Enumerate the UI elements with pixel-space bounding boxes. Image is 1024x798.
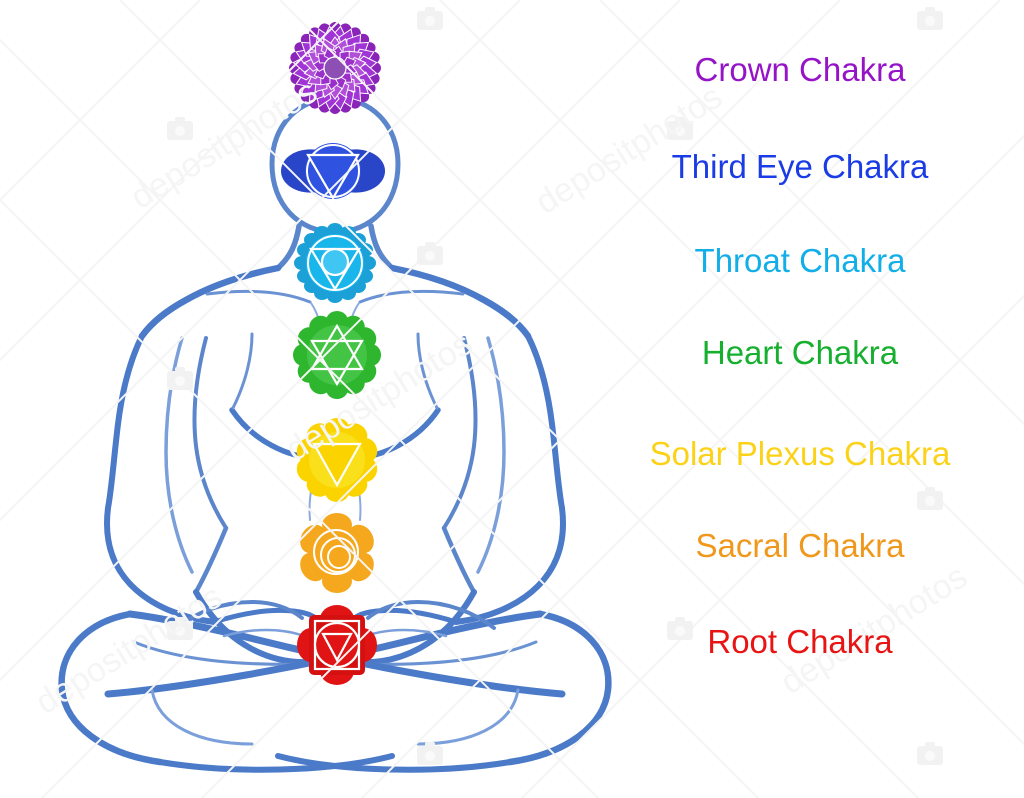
- chakra-label-solar-plexus: Solar Plexus Chakra: [590, 435, 1010, 473]
- chakra-label-list: Crown Chakra Third Eye Chakra Throat Cha…: [0, 0, 1024, 798]
- chakra-label-sacral: Sacral Chakra: [590, 527, 1010, 565]
- chakra-label-root: Root Chakra: [590, 623, 1010, 661]
- chakra-label-crown: Crown Chakra: [590, 51, 1010, 89]
- chakra-label-throat: Throat Chakra: [590, 242, 1010, 280]
- chakra-chart: depositphotos depositphotos depositphoto…: [0, 0, 1024, 798]
- chakra-label-heart: Heart Chakra: [590, 334, 1010, 372]
- chakra-label-third-eye: Third Eye Chakra: [590, 148, 1010, 186]
